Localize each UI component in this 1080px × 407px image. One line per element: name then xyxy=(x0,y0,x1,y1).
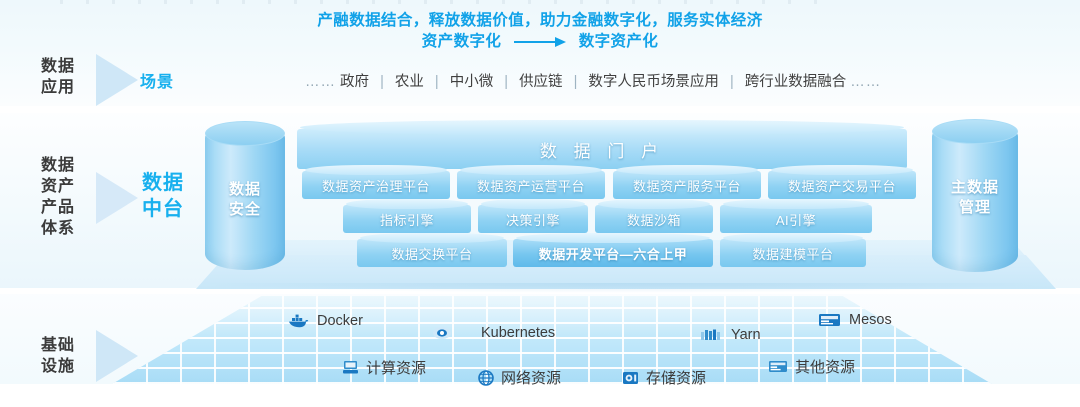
right-arrow-icon xyxy=(514,37,566,47)
scenario-list: …… 政府 | 农业 | 中小微 | 供应链 | 数字人民币场景应用 | 跨行业… xyxy=(305,70,881,91)
infra-label-compute-resource: 计算资源 xyxy=(366,357,426,378)
card-decision-engine[interactable]: 决策引擎 xyxy=(478,205,588,233)
infra-label-yarn: Yarn xyxy=(731,327,761,343)
infra-item-yarn[interactable]: Yarn xyxy=(700,327,761,343)
headline-line1: 产融数据结合，释放数据价值，助力金融数字化，服务实体经济 xyxy=(317,12,762,29)
scenario-separator: | xyxy=(373,74,391,90)
card-data-asset-operation[interactable]: 数据资产运营平台 xyxy=(457,171,605,199)
infra-item-other-resource[interactable]: 其他资源 xyxy=(768,356,855,377)
scenario-item-3[interactable]: 供应链 xyxy=(519,74,563,90)
data-portal-card[interactable]: 数 据 门 户 xyxy=(297,129,907,169)
headline-line2-right: 数字资产化 xyxy=(579,33,659,50)
yarn-bars-icon xyxy=(700,328,724,343)
card-metric-engine[interactable]: 指标引擎 xyxy=(343,205,471,233)
headline-line2: 资产数字化 数字资产化 xyxy=(0,31,1080,52)
scenario-item-5[interactable]: 跨行业数据融合 xyxy=(745,74,847,90)
docker-whale-icon xyxy=(288,313,310,329)
card-data-development-platform[interactable]: 数据开发平台—六合上甲 xyxy=(513,239,713,267)
scenario-separator: | xyxy=(723,74,741,90)
scenario-leading-dots: …… xyxy=(305,74,336,90)
rail-label-infrastructure: 基础 设施 xyxy=(26,335,90,377)
infra-label-network-resource: 网络资源 xyxy=(501,367,561,388)
infra-item-kubernetes[interactable]: Kubernetes xyxy=(432,325,555,341)
infra-label-mesos: Mesos xyxy=(849,312,892,328)
scenario-separator: | xyxy=(567,74,585,90)
scenario-item-0[interactable]: 政府 xyxy=(340,74,369,90)
infra-item-mesos[interactable]: Mesos xyxy=(818,312,892,328)
card-ai-engine[interactable]: AI引擎 xyxy=(720,205,872,233)
scenario-item-4[interactable]: 数字人民币场景应用 xyxy=(588,74,719,90)
headline: 产融数据结合，释放数据价值，助力金融数字化，服务实体经济 资产数字化 数字资产化 xyxy=(0,10,1080,52)
infra-label-docker: Docker xyxy=(317,313,363,329)
rail-label-application: 数据 应用 xyxy=(26,56,90,98)
master-data-management-label: 主数据 管理 xyxy=(932,178,1018,218)
top-edge-artifact xyxy=(60,0,820,4)
divider-app-mid xyxy=(0,106,1080,113)
data-middle-platform-title: 数据 中台 xyxy=(133,170,193,222)
data-security-cylinder[interactable]: 数据 安全 xyxy=(205,122,285,270)
infra-item-docker[interactable]: Docker xyxy=(288,313,363,329)
kubernetes-helm-icon xyxy=(432,325,452,341)
storage-icon xyxy=(622,370,639,386)
card-data-asset-service[interactable]: 数据资产服务平台 xyxy=(613,171,761,199)
mesos-icon xyxy=(818,312,842,328)
scenario-trailing-dots: …… xyxy=(850,74,881,90)
scenario-item-2[interactable]: 中小微 xyxy=(450,74,494,90)
card-data-sandbox[interactable]: 数据沙箱 xyxy=(595,205,713,233)
infra-label-storage-resource: 存储资源 xyxy=(646,367,706,388)
card-data-asset-trading[interactable]: 数据资产交易平台 xyxy=(768,171,916,199)
other-resource-icon xyxy=(768,359,788,374)
master-data-management-cylinder[interactable]: 主数据 管理 xyxy=(932,120,1018,272)
card-data-asset-governance[interactable]: 数据资产治理平台 xyxy=(302,171,450,199)
infra-label-kubernetes: Kubernetes xyxy=(481,325,555,341)
headline-line2-left: 资产数字化 xyxy=(422,33,502,50)
architecture-diagram: 产融数据结合，释放数据价值，助力金融数字化，服务实体经济 资产数字化 数字资产化… xyxy=(0,0,1080,407)
data-security-label: 数据 安全 xyxy=(205,180,285,220)
infra-label-other-resource: 其他资源 xyxy=(795,356,855,377)
platform-shadow xyxy=(196,283,1052,293)
server-icon xyxy=(342,359,359,376)
infra-item-compute-resource[interactable]: 计算资源 xyxy=(342,357,426,378)
infra-item-storage-resource[interactable]: 存储资源 xyxy=(622,367,706,388)
scenario-title: 场景 xyxy=(140,68,174,92)
scenario-separator: | xyxy=(428,74,446,90)
scenario-item-1[interactable]: 农业 xyxy=(395,74,424,90)
card-data-exchange-platform[interactable]: 数据交换平台 xyxy=(357,239,507,267)
scenario-separator: | xyxy=(497,74,515,90)
card-data-modeling-platform[interactable]: 数据建模平台 xyxy=(720,239,866,267)
right-triangle-icon-application xyxy=(96,54,138,106)
infra-item-network-resource[interactable]: 网络资源 xyxy=(478,367,561,388)
rail-label-data-asset-system: 数据 资产 产品 体系 xyxy=(26,155,90,239)
right-triangle-icon-middle xyxy=(96,172,138,224)
globe-icon xyxy=(478,370,494,386)
